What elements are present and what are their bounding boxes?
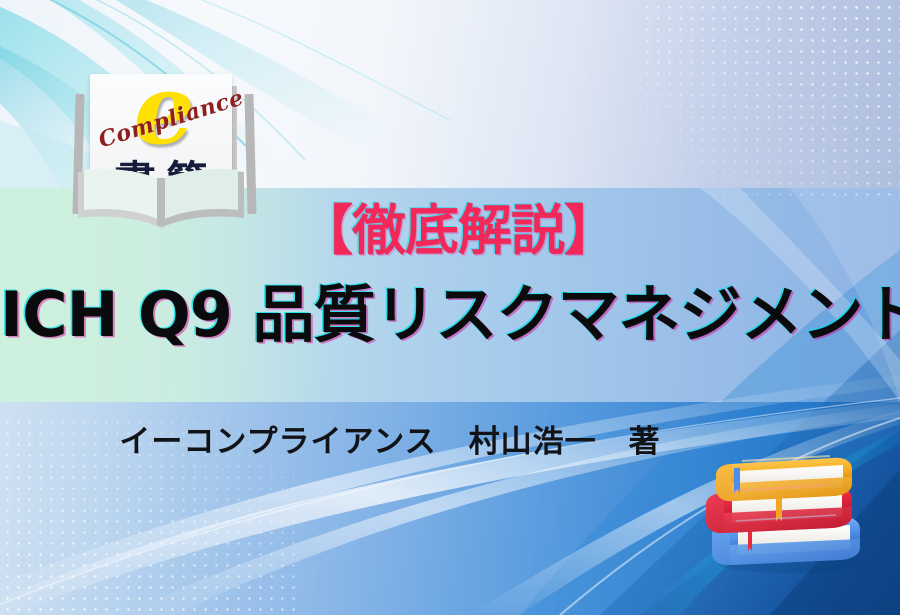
book-cover-poster: e Compliance 書籍 【徹底解説】 ICH Q9 品質リスクマネジメン…	[0, 0, 900, 615]
kicker-text: 【徹底解説】	[0, 200, 900, 262]
stacked-books-illustration	[690, 435, 890, 575]
page-title: ICH Q9 品質リスクマネジメント	[0, 278, 900, 352]
stacked-books-icon	[690, 435, 890, 575]
publisher-logo-card: e Compliance 書籍	[62, 62, 260, 214]
kicker-text-inner: 【徹底解説】	[283, 199, 617, 262]
